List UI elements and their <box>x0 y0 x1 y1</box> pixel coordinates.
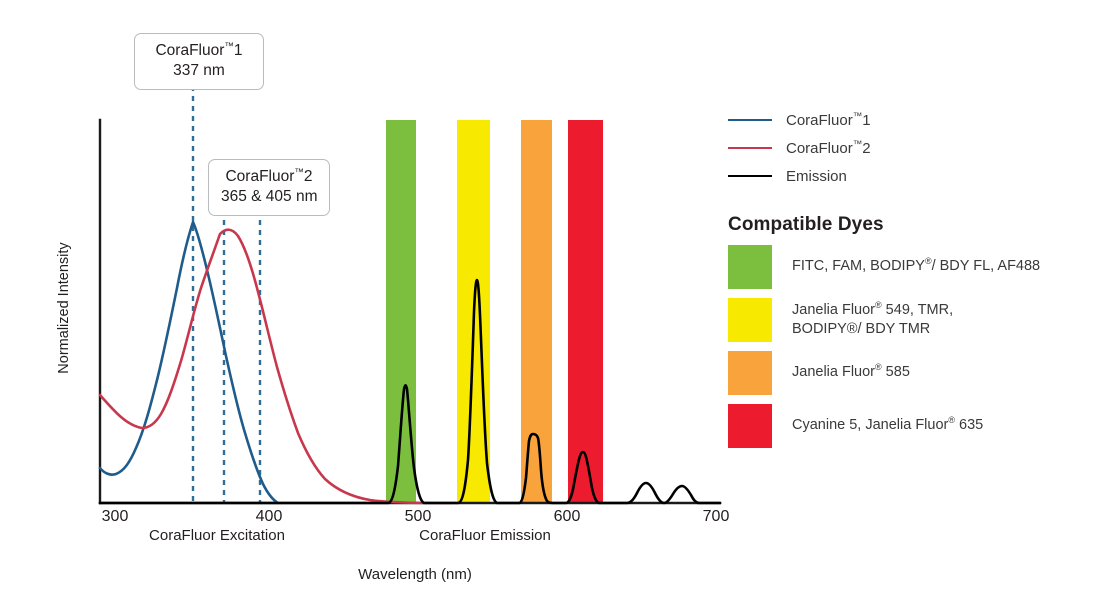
callout-2-line1: CoraFluor™2 <box>221 167 317 187</box>
dye-swatch-orange <box>728 351 772 395</box>
y-axis-title: Normalized Intensity <box>56 218 72 398</box>
dye-label-orange: Janelia Fluor® 585 <box>792 363 910 382</box>
band-red <box>568 120 603 503</box>
x-sublabel-excitation: CoraFluor Excitation <box>132 527 302 544</box>
legend-label-corafluor-2: CoraFluor™2 <box>786 140 871 157</box>
dye-item-yellow: Janelia Fluor® 549, TMR, BODIPY®/ BDY TM… <box>728 298 1100 342</box>
x-sublabel-emission: CoraFluor Emission <box>405 527 565 544</box>
legend-line-red <box>728 147 772 149</box>
callout-corafluor-1: CoraFluor™1 337 nm <box>134 33 264 90</box>
legend-line-blue <box>728 119 772 121</box>
x-axis-title: Wavelength (nm) <box>290 566 540 583</box>
plot-area: CoraFluor™1 337 nm CoraFluor™2 365 & 405… <box>0 0 740 612</box>
legend-item-corafluor-2: CoraFluor™2 <box>728 134 1100 162</box>
x-tick-300: 300 <box>85 508 145 526</box>
x-tick-600: 600 <box>537 508 597 526</box>
legend-label-emission: Emission <box>786 168 847 185</box>
legend-item-corafluor-1: CoraFluor™1 <box>728 106 1100 134</box>
spectra-figure: CoraFluor™1 337 nm CoraFluor™2 365 & 405… <box>0 0 1110 612</box>
legend-label-corafluor-1: CoraFluor™1 <box>786 112 871 129</box>
dye-label-yellow-l2: BODIPY®/ BDY TMR <box>792 321 930 337</box>
dye-swatch-yellow <box>728 298 772 342</box>
dye-item-red: Cyanine 5, Janelia Fluor® 635 <box>728 404 1100 448</box>
legend-line-black <box>728 175 772 177</box>
x-tick-700: 700 <box>686 508 746 526</box>
excitation-markers <box>193 86 260 503</box>
dye-label-green: FITC, FAM, BODIPY®/ BDY FL, AF488 <box>792 257 1040 276</box>
callout-1-line2: 337 nm <box>147 61 251 81</box>
x-tick-400: 400 <box>239 508 299 526</box>
legend-panel: CoraFluor™1 CoraFluor™2 Emission Compati… <box>728 106 1100 448</box>
dye-swatch-green <box>728 245 772 289</box>
dye-label-yellow-l1: Janelia Fluor® 549, TMR, <box>792 302 953 318</box>
callout-1-line1: CoraFluor™1 <box>147 41 251 61</box>
dye-label-red: Cyanine 5, Janelia Fluor® 635 <box>792 416 983 435</box>
dye-item-green: FITC, FAM, BODIPY®/ BDY FL, AF488 <box>728 245 1100 289</box>
compatible-dyes-title: Compatible Dyes <box>728 214 1100 236</box>
emission-bands <box>386 120 603 503</box>
callout-corafluor-2: CoraFluor™2 365 & 405 nm <box>208 159 330 216</box>
dye-item-orange: Janelia Fluor® 585 <box>728 351 1100 395</box>
legend-item-emission: Emission <box>728 162 1100 190</box>
x-tick-500: 500 <box>388 508 448 526</box>
callout-2-line2: 365 & 405 nm <box>221 187 317 207</box>
dye-label-yellow: Janelia Fluor® 549, TMR, BODIPY®/ BDY TM… <box>792 301 953 340</box>
dye-swatch-red <box>728 404 772 448</box>
band-orange <box>521 120 552 503</box>
